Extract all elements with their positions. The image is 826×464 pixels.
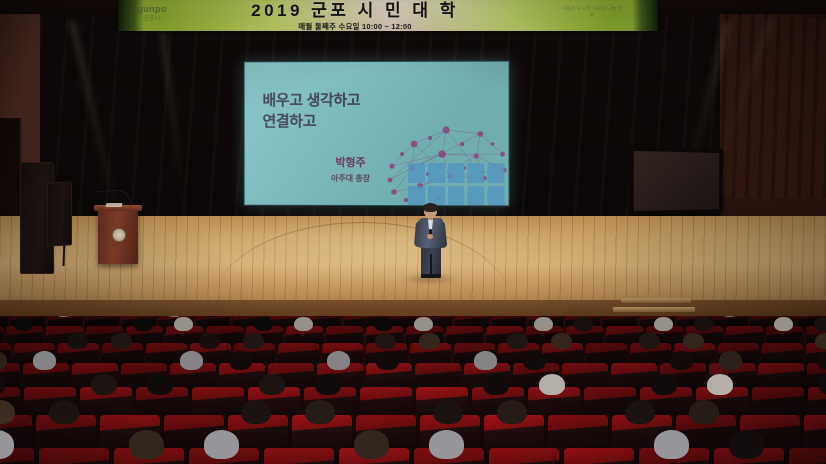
- audience-member: [625, 400, 655, 425]
- gunpo-logo: gunpo 군포시: [124, 5, 180, 22]
- audience-member: [241, 400, 271, 425]
- audience-member: [327, 351, 350, 370]
- audience-member: [815, 333, 826, 349]
- audience-member: [707, 374, 733, 395]
- audience-member: [180, 351, 203, 370]
- projection-screen: 배우고 생각하고 연결하고 박형주 아주대 총장: [244, 61, 510, 207]
- audience-member: [729, 430, 764, 459]
- audience-member: [683, 333, 704, 349]
- presenter-hair: [423, 203, 438, 212]
- audience-seat: [564, 448, 634, 464]
- audience-member: [199, 333, 220, 349]
- slide-title: 배우고 생각하고 연결하고: [262, 90, 442, 132]
- audience-seat: [489, 448, 559, 464]
- audience-member: [651, 374, 677, 395]
- audience-member: [574, 317, 593, 331]
- audience-seat: [264, 448, 334, 464]
- audience-member: [111, 333, 132, 349]
- banner-text-block: 2019 군포 시 민 대 학 매월 둘째주 수요일 10:00 ~ 12:00: [190, 1, 520, 31]
- audience-member: [814, 317, 826, 331]
- banner-title: 2019 군포 시 민 대 학: [190, 1, 520, 20]
- audience-member: [174, 317, 193, 331]
- audience-seat: [789, 448, 826, 464]
- event-banner: gunpo 군포시 2019 군포 시 민 대 학 매월 둘째주 수요일 10:…: [118, 0, 659, 31]
- audience-member: [129, 430, 164, 459]
- audience-member: [374, 317, 393, 331]
- audience-member: [204, 430, 239, 459]
- gunpo-logo-subtext: 군포시: [124, 16, 180, 22]
- audience-member: [91, 374, 117, 395]
- audience-member: [817, 351, 826, 370]
- audience-member: [294, 317, 313, 331]
- audience-member: [670, 351, 693, 370]
- audience-seating: [0, 316, 826, 464]
- banner-subtitle: 매월 둘째주 수요일 10:00 ~ 12:00: [190, 21, 520, 31]
- audience-member: [49, 400, 79, 425]
- left-wall-frame: [0, 118, 22, 228]
- audience-member: [774, 317, 793, 331]
- audience-member: [67, 333, 88, 349]
- audience-member: [719, 351, 742, 370]
- audience-member: [539, 374, 565, 395]
- audience-member: [419, 333, 440, 349]
- lectern-emblem: [112, 228, 126, 242]
- audience-member: [639, 333, 660, 349]
- audience-member: [243, 333, 264, 349]
- slide-blocks-graphic: [408, 163, 505, 205]
- audience-member: [523, 351, 546, 370]
- audience-member: [507, 333, 528, 349]
- audience-member: [33, 351, 56, 370]
- audience-member: [534, 317, 553, 331]
- side-monitor: [630, 147, 723, 216]
- presenter-shoes: [421, 274, 441, 278]
- auditorium-photo: gunpo 군포시 2019 군포 시 민 대 학 매월 둘째주 수요일 10:…: [0, 0, 826, 464]
- audience-member: [483, 374, 509, 395]
- audience-member: [305, 400, 335, 425]
- audience-member: [429, 430, 464, 459]
- loudspeaker-monitor: [47, 181, 72, 246]
- audience-member: [551, 333, 572, 349]
- audience-member: [14, 317, 33, 331]
- audience-member: [315, 374, 341, 395]
- banner-slogan: 사람과 도시가 사랑을 나눔 군포: [560, 6, 624, 18]
- audience-member: [474, 351, 497, 370]
- audience-member: [354, 430, 389, 459]
- presenter: [412, 204, 448, 278]
- banner-right-accent: [632, 0, 659, 31]
- audience-member: [433, 400, 463, 425]
- audience-member: [376, 351, 399, 370]
- audience-member: [134, 317, 153, 331]
- audience-member: [414, 317, 433, 331]
- presenter-hand: [427, 234, 433, 239]
- audience-member: [147, 374, 173, 395]
- slide-title-line1: 배우고 생각하고: [262, 90, 442, 111]
- audience-member: [229, 351, 252, 370]
- audience-member: [259, 374, 285, 395]
- audience-member: [654, 317, 673, 331]
- audience-member: [689, 400, 719, 425]
- slide-speaker-role: 아주대 총장: [298, 173, 403, 184]
- audience-member: [497, 400, 527, 425]
- slide-speaker-name: 박형주: [298, 157, 403, 170]
- slide-title-line2: 연결하고: [262, 111, 442, 132]
- gunpo-logo-text: gunpo: [124, 5, 180, 14]
- audience-member: [254, 317, 273, 331]
- presenter-leg-split: [430, 254, 432, 276]
- audience-member: [654, 430, 689, 459]
- right-wall-slats: [716, 9, 826, 209]
- audience-member: [375, 333, 396, 349]
- audience-member: [694, 317, 713, 331]
- audience-seat: [39, 448, 109, 464]
